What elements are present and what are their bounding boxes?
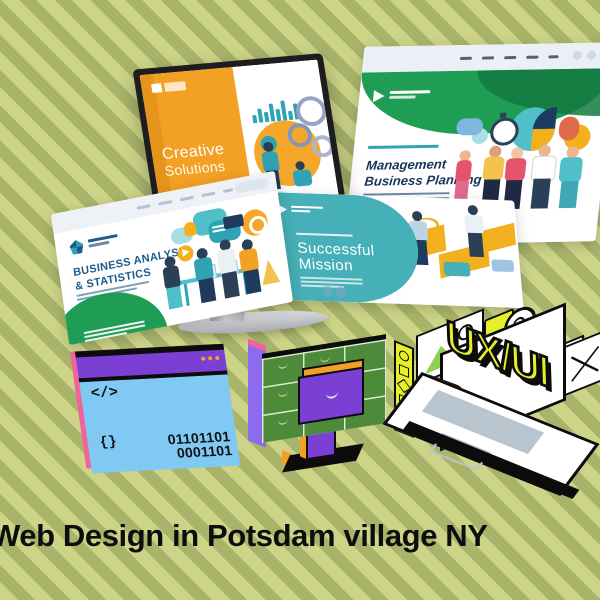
card-nav-button: [234, 177, 269, 193]
folder-handle: [326, 391, 338, 400]
card-logo: [69, 232, 119, 255]
grid-monitor-illustration: [248, 344, 388, 480]
code-tag-icon: </>: [90, 384, 119, 402]
logo-wordmark: [88, 234, 119, 250]
card-title: Successful Mission: [297, 241, 377, 276]
card-eyebrow-text: [368, 145, 439, 149]
card-logo: [278, 204, 324, 216]
screen-logo: [151, 81, 186, 93]
code-brace-icon: {}: [99, 434, 118, 451]
screen-heading: Creative Solutions: [161, 142, 228, 179]
meeting-illustration: [148, 193, 289, 325]
logo-mark-icon: [373, 90, 385, 102]
title-rule: [296, 233, 353, 237]
logo-wordmark: [389, 90, 430, 101]
code-browser-window[interactable]: </> {} 01101101 0001101: [76, 349, 241, 474]
page-title: Web Design in Potsdam village NY: [0, 518, 488, 554]
successful-mission-card: Successful Mission: [262, 192, 523, 308]
binary-text: 01101101 0001101: [167, 429, 234, 461]
window-controls[interactable]: [201, 356, 220, 361]
uxui-laptop-illustration: UX/UI: [384, 308, 600, 488]
window-titlebar[interactable]: [76, 349, 228, 383]
window-body: </> {} 01101101 0001101: [76, 349, 241, 474]
logo-wordmark: [291, 206, 324, 215]
title-bar: Web Design in Potsdam village NY: [0, 506, 600, 566]
card-logo: [373, 89, 431, 102]
green-blob-callout: [51, 282, 175, 345]
placeholder-cross-icon: [567, 338, 600, 389]
folder-icon: [298, 365, 360, 421]
poster-canvas: Management Business Planning: [0, 0, 600, 600]
mission-page-dots: [323, 285, 346, 298]
callout-text: [84, 320, 147, 344]
logo-mark-icon: [69, 239, 85, 256]
